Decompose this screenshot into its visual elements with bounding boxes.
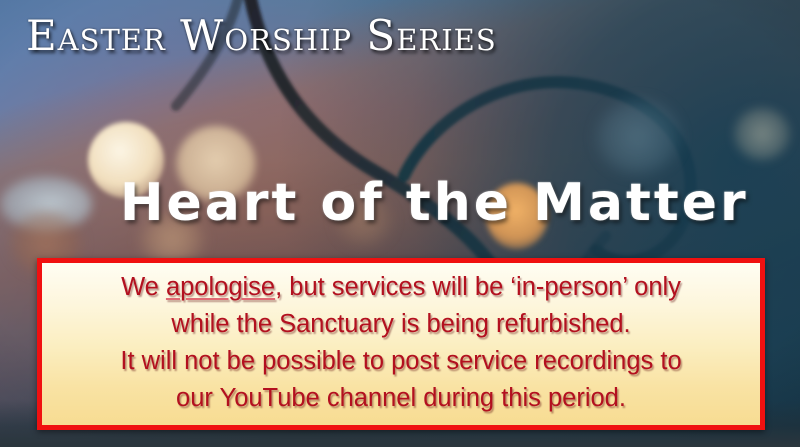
misspelled-word: apologise xyxy=(166,273,275,301)
main-title: Heart of the Matter xyxy=(120,176,749,231)
bokeh-light xyxy=(0,176,92,232)
notice-line-1: We apologise, but services will be ‘in-p… xyxy=(121,269,681,306)
notice-line-1-after: , but services will be ‘in-person’ only xyxy=(275,273,681,301)
presentation-slide: Easter Worship Series Heart of the Matte… xyxy=(0,0,800,447)
bokeh-light xyxy=(596,100,680,174)
series-title: Easter Worship Series xyxy=(26,14,497,58)
notice-line-1-before: We xyxy=(121,273,166,301)
notice-box: We apologise, but services will be ‘in-p… xyxy=(37,258,765,430)
notice-line-2: while the Sanctuary is being refurbished… xyxy=(171,306,630,343)
notice-line-4: our YouTube channel during this period. xyxy=(176,380,626,417)
notice-line-3: It will not be possible to post service … xyxy=(120,343,681,380)
bokeh-light xyxy=(734,108,790,160)
